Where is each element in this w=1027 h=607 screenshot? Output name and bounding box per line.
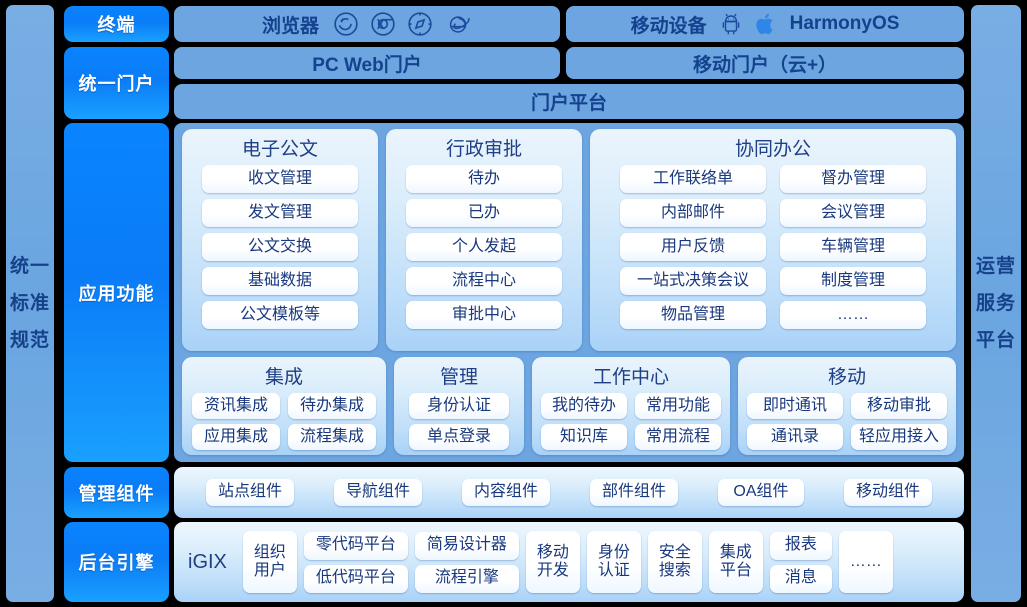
app-item[interactable]: 工作联络单 — [620, 165, 766, 193]
app-item[interactable]: 身份认证 — [409, 393, 509, 419]
group-items-integration: 资讯集成 待办集成 应用集成 流程集成 — [182, 393, 386, 450]
mgmt-component-item[interactable]: 站点组件 — [206, 479, 294, 506]
ie-icon — [444, 11, 472, 37]
app-item[interactable]: 一站式决策会议 — [620, 267, 766, 295]
right-vertical-band-operation-service-platform: 运营 服务 平台 — [971, 5, 1021, 602]
app-item[interactable]: 待办集成 — [288, 393, 376, 419]
app-item[interactable]: 常用功能 — [635, 393, 721, 419]
app-item[interactable]: 会议管理 — [780, 199, 926, 227]
engine-item[interactable]: 消息 — [770, 565, 832, 593]
engine-item-secure-search[interactable]: 安全 搜索 — [648, 531, 702, 593]
backend-engine-area: iGIX 组织 用户 零代码平台 低代码平台 简易设计器 流程引擎 移动 开发 … — [174, 522, 964, 602]
browser-label: 浏览器 — [262, 11, 319, 38]
engine-item[interactable]: 低代码平台 — [304, 565, 408, 593]
mgmt-component-item[interactable]: OA组件 — [718, 479, 804, 506]
architecture-diagram: 统一 标准 规范 运营 服务 平台 终端 统一门户 应用功能 管理组件 后台引擎… — [0, 0, 1027, 607]
app-item[interactable]: 已办 — [406, 199, 562, 227]
app-item[interactable]: 发文管理 — [202, 199, 358, 227]
group-administrative-approval: 行政审批 待办 已办 个人发起 流程中心 审批中心 — [386, 129, 582, 351]
engine-item-identity-auth[interactable]: 身份 认证 — [587, 531, 641, 593]
app-item[interactable]: 物品管理 — [620, 301, 766, 329]
group-items-management: 身份认证 单点登录 — [394, 393, 524, 450]
safari-icon — [407, 11, 433, 37]
terminal-browser-bar: 浏览器 — [174, 6, 560, 42]
row-label-terminal: 终端 — [64, 6, 169, 42]
mobile-device-label: 移动设备 — [631, 11, 707, 38]
app-item[interactable]: 用户反馈 — [620, 233, 766, 261]
app-item[interactable]: 即时通讯 — [747, 393, 843, 419]
engine-item[interactable]: 简易设计器 — [415, 532, 519, 560]
mgmt-component-item[interactable]: 移动组件 — [844, 479, 932, 506]
app-item[interactable]: 个人发起 — [406, 233, 562, 261]
app-item[interactable]: 应用集成 — [192, 424, 280, 450]
app-item[interactable]: 基础数据 — [202, 267, 358, 295]
group-items-collaborative-office: 工作联络单 督办管理 内部邮件 会议管理 用户反馈 车辆管理 一站式决策会议 制… — [590, 165, 956, 329]
android-icon — [719, 11, 743, 37]
app-item[interactable]: 流程集成 — [288, 424, 376, 450]
app-item[interactable]: 内部邮件 — [620, 199, 766, 227]
harmonyos-label: HarmonyOS — [790, 13, 900, 35]
group-title-integration: 集成 — [182, 363, 386, 393]
engine-stack-report-message: 报表 消息 — [770, 532, 832, 593]
group-items-work-center: 我的待办 常用功能 知识库 常用流程 — [532, 393, 730, 450]
app-item[interactable]: 通讯录 — [747, 424, 843, 450]
engine-stack-designer: 简易设计器 流程引擎 — [415, 532, 519, 593]
app-item[interactable]: 制度管理 — [780, 267, 926, 295]
mobile-icon-group — [719, 11, 778, 37]
engine-item-integration-platform[interactable]: 集成 平台 — [709, 531, 763, 593]
right-band-char-2: 平台 — [976, 331, 1016, 350]
mgmt-component-item[interactable]: 内容组件 — [462, 479, 550, 506]
app-item[interactable]: 流程中心 — [406, 267, 562, 295]
group-title-electronic-document: 电子公文 — [182, 135, 378, 165]
app-item[interactable]: 车辆管理 — [780, 233, 926, 261]
left-band-char-2: 规范 — [10, 331, 50, 350]
right-band-char-1: 服务 — [976, 294, 1016, 313]
app-item[interactable]: 收文管理 — [202, 165, 358, 193]
engine-item-mobile-dev[interactable]: 移动 开发 — [526, 531, 580, 593]
group-management: 管理 身份认证 单点登录 — [394, 357, 524, 455]
app-item[interactable]: 单点登录 — [409, 424, 509, 450]
app-item[interactable]: 公文模板等 — [202, 301, 358, 329]
app-item[interactable]: 公文交换 — [202, 233, 358, 261]
left-band-char-0: 统一 — [10, 257, 50, 276]
group-title-mobile: 移动 — [738, 363, 956, 393]
app-item[interactable]: 移动审批 — [851, 393, 947, 419]
app-item[interactable]: 督办管理 — [780, 165, 926, 193]
row-label-management-component: 管理组件 — [64, 467, 169, 518]
engine-item-org-user[interactable]: 组织 用户 — [243, 531, 297, 593]
engine-platform-name: iGIX — [184, 551, 236, 574]
left-vertical-band-unified-standard: 统一 标准 规范 — [6, 5, 54, 602]
group-title-work-center: 工作中心 — [532, 363, 730, 393]
app-item[interactable]: 常用流程 — [635, 424, 721, 450]
app-item[interactable]: 审批中心 — [406, 301, 562, 329]
portal-platform-bar: 门户平台 — [174, 84, 964, 119]
app-item[interactable]: 我的待办 — [541, 393, 627, 419]
engine-item-more[interactable]: …… — [839, 531, 893, 593]
application-function-area: 电子公文 收文管理 发文管理 公文交换 基础数据 公文模板等 行政审批 待办 已… — [174, 123, 964, 462]
group-integration: 集成 资讯集成 待办集成 应用集成 流程集成 — [182, 357, 386, 455]
mgmt-component-item[interactable]: 部件组件 — [590, 479, 678, 506]
group-mobile: 移动 即时通讯 移动审批 通讯录 轻应用接入 — [738, 357, 956, 455]
engine-stack-code-platform: 零代码平台 低代码平台 — [304, 532, 408, 593]
group-title-collaborative-office: 协同办公 — [590, 135, 956, 165]
row-label-unified-portal: 统一门户 — [64, 47, 169, 119]
management-components-area: 站点组件 导航组件 内容组件 部件组件 OA组件 移动组件 — [174, 467, 964, 518]
app-item-more[interactable]: …… — [780, 301, 926, 329]
mobile-portal-bar: 移动门户（云+） — [566, 47, 964, 79]
engine-item[interactable]: 报表 — [770, 532, 832, 560]
group-items-mobile: 即时通讯 移动审批 通讯录 轻应用接入 — [738, 393, 956, 450]
pc-web-portal-bar: PC Web门户 — [174, 47, 560, 79]
mgmt-component-item[interactable]: 导航组件 — [334, 479, 422, 506]
app-item[interactable]: 知识库 — [541, 424, 627, 450]
engine-item[interactable]: 流程引擎 — [415, 565, 519, 593]
group-items-administrative-approval: 待办 已办 个人发起 流程中心 审批中心 — [386, 165, 582, 329]
apple-icon — [754, 11, 778, 37]
row-label-app-function: 应用功能 — [64, 123, 169, 462]
app-item[interactable]: 待办 — [406, 165, 562, 193]
app-item[interactable]: 轻应用接入 — [851, 424, 947, 450]
browser-icon-group — [333, 11, 472, 37]
group-items-electronic-document: 收文管理 发文管理 公文交换 基础数据 公文模板等 — [182, 165, 378, 329]
group-electronic-document: 电子公文 收文管理 发文管理 公文交换 基础数据 公文模板等 — [182, 129, 378, 351]
left-band-char-1: 标准 — [10, 294, 50, 313]
right-band-char-0: 运营 — [976, 257, 1016, 276]
group-collaborative-office: 协同办公 工作联络单 督办管理 内部邮件 会议管理 用户反馈 车辆管理 一站式决… — [590, 129, 956, 351]
chrome-icon — [370, 11, 396, 37]
engine-item[interactable]: 零代码平台 — [304, 532, 408, 560]
app-item[interactable]: 资讯集成 — [192, 393, 280, 419]
group-work-center: 工作中心 我的待办 常用功能 知识库 常用流程 — [532, 357, 730, 455]
group-title-management: 管理 — [394, 363, 524, 393]
group-title-administrative-approval: 行政审批 — [386, 135, 582, 165]
row-label-backend-engine: 后台引擎 — [64, 522, 169, 602]
firefox-icon — [333, 11, 359, 37]
terminal-mobile-bar: 移动设备 HarmonyOS — [566, 6, 964, 42]
